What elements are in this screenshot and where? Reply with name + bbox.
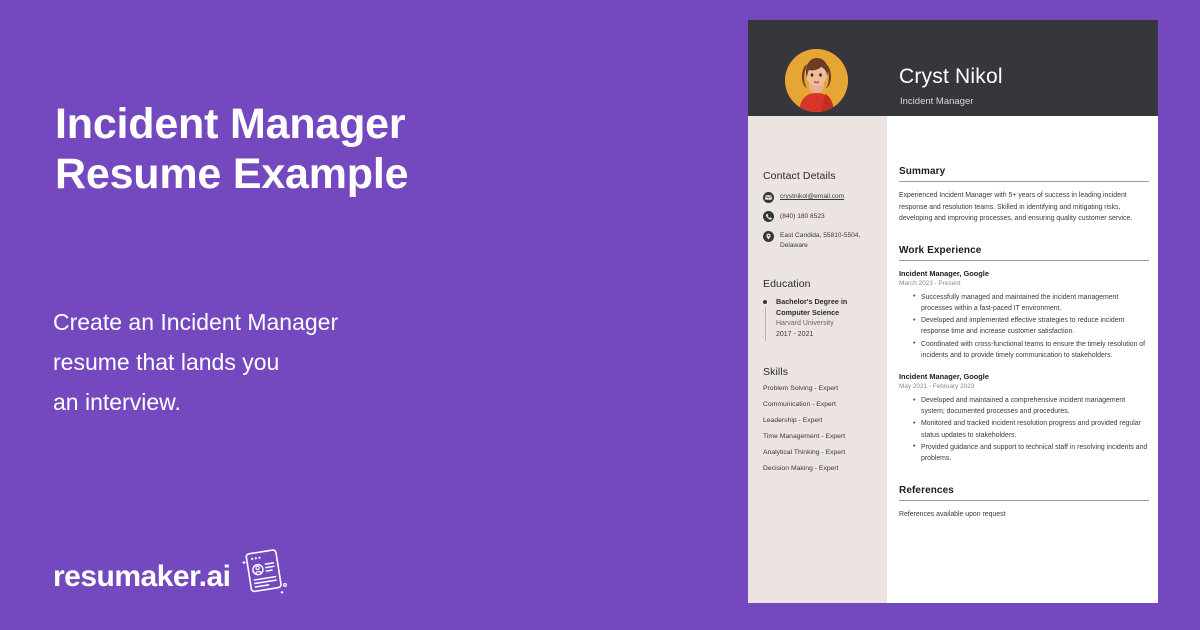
job-bullet-list: Successfully managed and maintained the … (913, 292, 1149, 361)
skill-item: Analytical Thinking - Expert (763, 449, 875, 456)
page-title-line-2: Resume Example (55, 149, 555, 199)
contact-item-email[interactable]: crystnikol@email.com (763, 191, 875, 203)
resume-role: Incident Manager (900, 96, 973, 107)
avatar (785, 49, 848, 112)
promo-subtitle-line-3: an interview. (53, 382, 473, 422)
education-years: 2017 - 2021 (776, 330, 875, 341)
job-bullet: Coordinated with cross-functional teams … (913, 339, 1149, 361)
job-bullet: Monitored and tracked incident resolutio… (913, 418, 1149, 440)
references-heading: References (899, 485, 1149, 501)
resumaker-logo[interactable]: resumaker.ai (53, 548, 291, 606)
envelope-icon (763, 192, 774, 203)
education-item: Bachelor's Degree in Computer Science Ha… (763, 297, 875, 340)
job-title: Incident Manager, Google (899, 269, 1149, 279)
job-bullet: Developed and implemented effective stra… (913, 315, 1149, 337)
job-bullet: Successfully managed and maintained the … (913, 292, 1149, 314)
summary-text: Experienced Incident Manager with 5+ yea… (899, 190, 1149, 225)
phone-icon (763, 211, 774, 222)
resume-name: Cryst Nikol (899, 65, 1003, 89)
promo-subtitle: Create an Incident Manager resume that l… (53, 302, 473, 422)
skill-item: Decision Making - Expert (763, 465, 875, 472)
job-entry: Incident Manager, Google May 2021 - Febr… (899, 372, 1149, 464)
contact-email-text[interactable]: crystnikol@email.com (780, 191, 844, 202)
education-timeline-line (765, 307, 766, 341)
contact-address-text: East Candida, 55810-5504, Delaware (780, 230, 875, 250)
contact-phone-text: (840) 180 8523 (780, 211, 825, 222)
skill-item: Time Management - Expert (763, 433, 875, 440)
education-school: Harvard University (776, 319, 875, 330)
job-bullet-list: Developed and maintained a comprehensive… (913, 395, 1149, 464)
promo-subtitle-line-1: Create an Incident Manager (53, 302, 473, 342)
contact-item-address[interactable]: East Candida, 55810-5504, Delaware (763, 230, 875, 250)
skill-item: Problem Solving - Expert (763, 385, 875, 392)
job-date: May 2021 - February 2023 (899, 382, 1149, 392)
resume-main-column: Summary Experienced Incident Manager wit… (887, 116, 1158, 603)
education-bullet-icon (763, 300, 767, 304)
work-experience-heading: Work Experience (899, 245, 1149, 261)
skills-heading: Skills (763, 366, 875, 378)
summary-heading: Summary (899, 166, 1149, 182)
job-bullet: Provided guidance and support to technic… (913, 442, 1149, 464)
job-title: Incident Manager, Google (899, 372, 1149, 382)
resume-sidebar: Contact Details crystnikol@email.com (84… (748, 116, 887, 603)
contact-details-heading: Contact Details (763, 170, 875, 182)
job-entry: Incident Manager, Google March 2023 - Pr… (899, 269, 1149, 361)
job-date: March 2023 - Present (899, 279, 1149, 289)
references-text: References available upon request (899, 509, 1149, 520)
page-title: Incident Manager Resume Example (55, 99, 555, 199)
promo-panel: Incident Manager Resume Example Create a… (0, 0, 748, 630)
education-heading: Education (763, 278, 875, 290)
skill-item: Leadership - Expert (763, 417, 875, 424)
skill-item: Communication - Expert (763, 401, 875, 408)
logo-wordmark: resumaker.ai (53, 562, 230, 592)
promo-subtitle-line-2: resume that lands you (53, 342, 473, 382)
location-pin-icon (763, 231, 774, 242)
resume-document-icon (233, 544, 291, 602)
page-title-line-1: Incident Manager (55, 99, 555, 149)
resume-preview-card[interactable]: Cryst Nikol Incident Manager Contact Det… (748, 20, 1158, 603)
job-bullet: Developed and maintained a comprehensive… (913, 395, 1149, 417)
education-degree: Bachelor's Degree in Computer Science (776, 297, 875, 318)
contact-item-phone[interactable]: (840) 180 8523 (763, 211, 875, 223)
